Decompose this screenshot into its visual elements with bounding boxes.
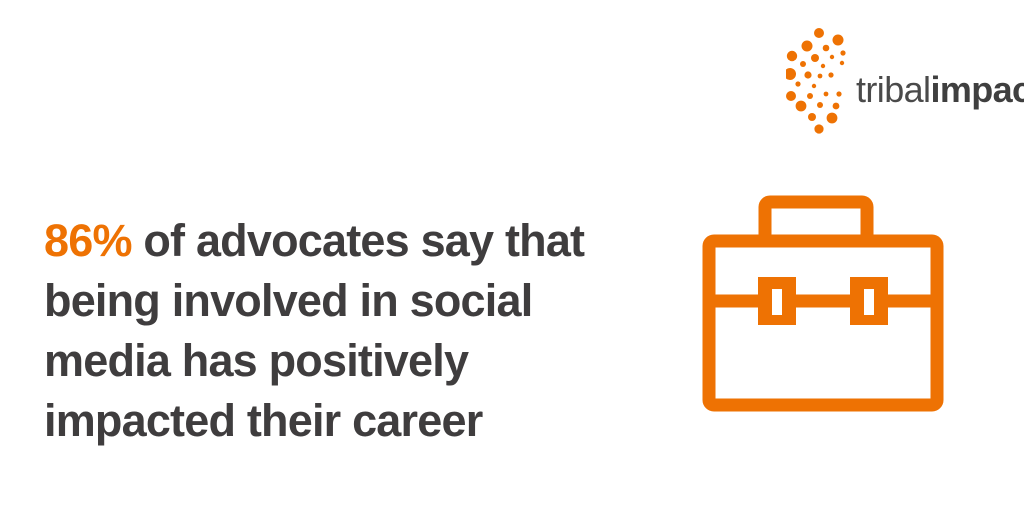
briefcase-icon	[690, 186, 956, 412]
infographic-canvas: tribalimpact® 86% of advocates say that …	[0, 0, 1024, 512]
dot-cluster-icon	[786, 26, 858, 134]
logo-wordmark-tribal: tribal	[856, 69, 930, 110]
tribal-impact-logo: tribalimpact®	[786, 26, 1000, 134]
logo-wordmark-impact: impact	[930, 69, 1024, 110]
briefcase-latch-right	[850, 277, 888, 325]
headline-statistic: 86% of advocates say that being involved…	[44, 211, 604, 451]
briefcase-latch-left	[758, 277, 796, 325]
logo-wordmark: tribalimpact®	[856, 72, 1024, 108]
stat-percentage: 86%	[44, 215, 132, 266]
